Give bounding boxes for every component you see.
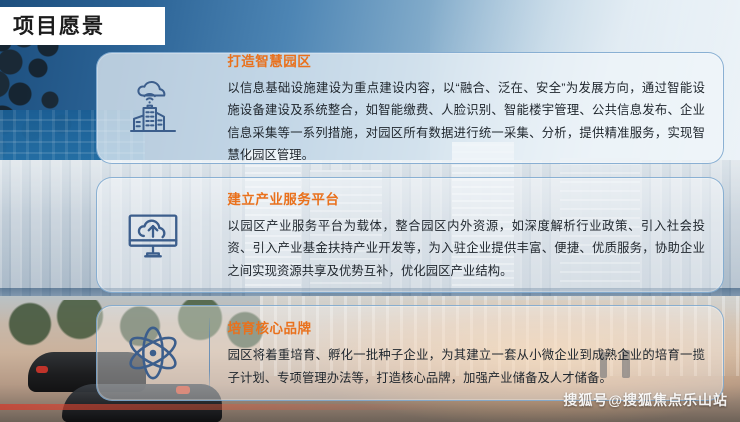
card-body: 打造智慧园区 以信息基础设施建设为重点建设内容，以“融合、泛在、安全”为发展方向… [209, 46, 723, 171]
card-text: 以信息基础设施建设为重点建设内容，以“融合、泛在、安全”为发展方向，通过智能设施… [227, 77, 705, 167]
monitor-cloud-upload-icon [97, 204, 209, 266]
page-title-box: 项目愿景 [0, 7, 165, 45]
card-text: 以园区产业服务平台为载体，整合园区内外资源，如深度解析行业政策、引入社会投资、引… [227, 215, 705, 282]
card-body: 建立产业服务平台 以园区产业服务平台为载体，整合园区内外资源，如深度解析行业政策… [209, 184, 723, 286]
atom-icon [97, 322, 209, 384]
card-heading: 建立产业服务平台 [227, 188, 705, 208]
card-text: 园区将着重培育、孵化一批种子企业，为其建立一套从小微企业到成熟企业的培育一揽子计… [228, 344, 705, 389]
background-taillight-left [36, 366, 48, 373]
watermark: 搜狐号@搜狐焦点乐山站 [563, 390, 728, 410]
page-title: 项目愿景 [13, 16, 105, 37]
card-heading: 培育核心品牌 [228, 317, 705, 337]
smart-building-cloud-wifi-icon [97, 76, 209, 140]
card-heading: 打造智慧园区 [227, 50, 705, 70]
card-body: 培育核心品牌 园区将着重培育、孵化一批种子企业，为其建立一套从小微企业到成熟企业… [210, 313, 723, 393]
vision-card-industry-platform[interactable]: 建立产业服务平台 以园区产业服务平台为载体，整合园区内外资源，如深度解析行业政策… [96, 177, 724, 293]
slide-canvas: 项目愿景 打造智慧园区 以信息基础设施建设为重点建设内容，以“融合、泛在 [0, 0, 740, 422]
vision-card-smart-park[interactable]: 打造智慧园区 以信息基础设施建设为重点建设内容，以“融合、泛在、安全”为发展方向… [96, 52, 724, 164]
vision-card-core-brand[interactable]: 培育核心品牌 园区将着重培育、孵化一批种子企业，为其建立一套从小微企业到成熟企业… [96, 305, 724, 401]
